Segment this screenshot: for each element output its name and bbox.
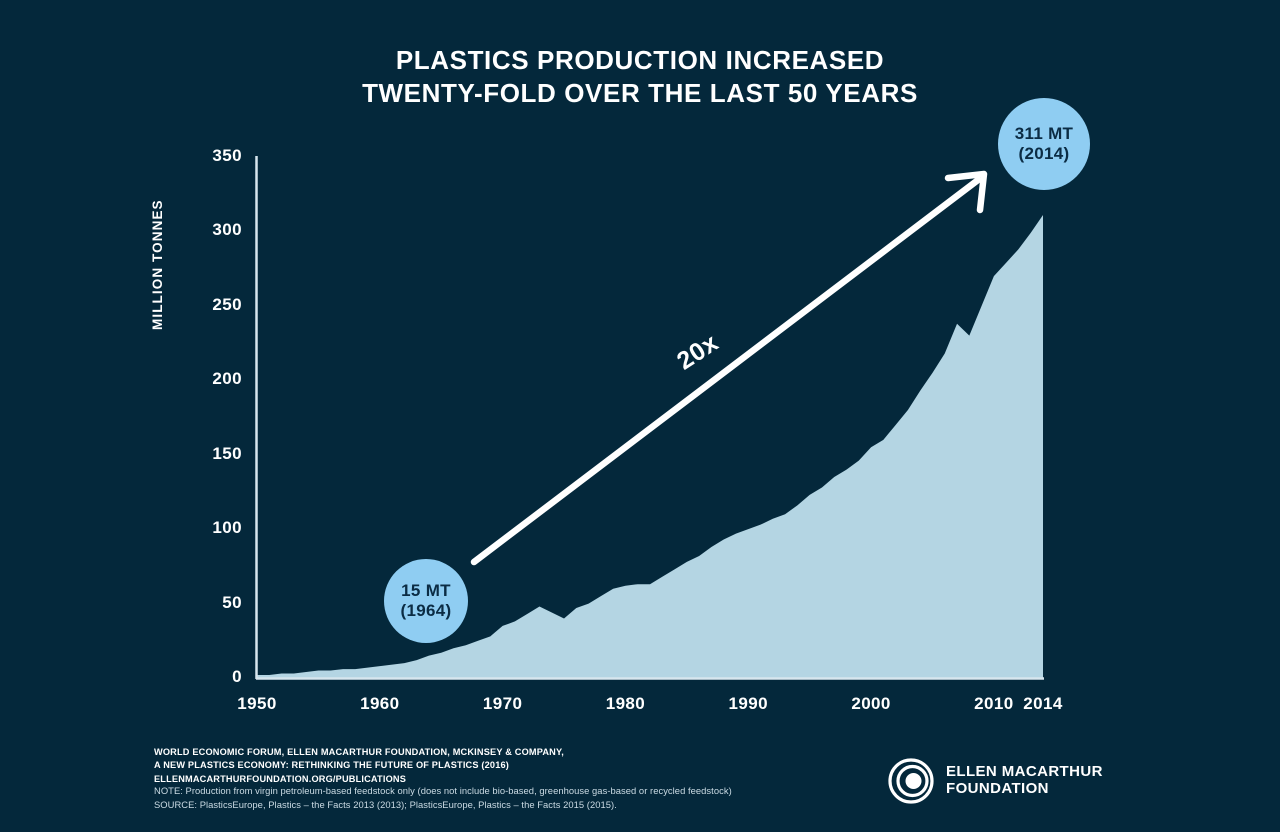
y-tick-label: 200: [182, 369, 242, 389]
footer: WORLD ECONOMIC FORUM, ELLEN MACARTHUR FO…: [0, 736, 1280, 832]
note-line: NOTE: Production from virgin petroleum-b…: [154, 784, 732, 798]
series-area-plastics-production: [257, 215, 1043, 678]
y-tick-label: 50: [182, 593, 242, 613]
logo-wordmark: ELLEN MACARTHUR FOUNDATION: [946, 764, 1103, 798]
y-tick-label: 350: [182, 146, 242, 166]
logo-line-2: FOUNDATION: [946, 781, 1103, 798]
infographic-root: PLASTICS PRODUCTION INCREASED TWENTY-FOL…: [0, 0, 1280, 832]
callout-start-year: (1964): [401, 601, 452, 621]
x-tick-label: 1980: [585, 694, 665, 714]
note-text: NOTE: Production from virgin petroleum-b…: [154, 784, 732, 812]
callout-end-value: 311 MT: [1015, 124, 1074, 144]
x-tick-label: 1950: [217, 694, 297, 714]
callout-bubble-end: 311 MT (2014): [998, 98, 1090, 190]
y-axis-ticks: 050100150200250300350: [180, 0, 242, 700]
ellen-macarthur-foundation-logo: ELLEN MACARTHUR FOUNDATION: [888, 758, 1103, 804]
y-tick-label: 150: [182, 444, 242, 464]
credit-line: A NEW PLASTICS ECONOMY: RETHINKING THE F…: [154, 759, 564, 772]
x-tick-label: 2000: [831, 694, 911, 714]
callout-bubble-start: 15 MT (1964): [384, 559, 468, 643]
x-tick-label: 1960: [340, 694, 420, 714]
callout-end-year: (2014): [1019, 144, 1070, 164]
y-tick-label: 100: [182, 518, 242, 538]
y-axis-title: MILLION TONNES: [150, 306, 165, 330]
logo-line-1: ELLEN MACARTHUR: [946, 764, 1103, 781]
x-tick-label: 1970: [463, 694, 543, 714]
y-tick-label: 250: [182, 295, 242, 315]
spiral-rings-icon: [888, 758, 934, 804]
y-tick-label: 0: [182, 667, 242, 687]
callout-start-value: 15 MT: [401, 581, 451, 601]
y-tick-label: 300: [182, 220, 242, 240]
x-tick-label: 2014: [1003, 694, 1083, 714]
note-line: SOURCE: PlasticsEurope, Plastics – the F…: [154, 798, 732, 812]
credit-text: WORLD ECONOMIC FORUM, ELLEN MACARTHUR FO…: [154, 746, 564, 786]
chart-area: MILLION TONNES 050100150200250300350 195…: [0, 0, 1280, 760]
credit-line: WORLD ECONOMIC FORUM, ELLEN MACARTHUR FO…: [154, 746, 564, 759]
x-tick-label: 1990: [708, 694, 788, 714]
